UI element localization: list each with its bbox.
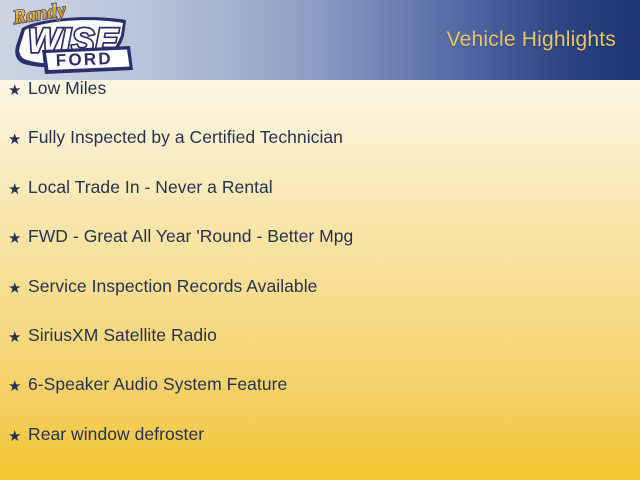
highlight-label: Rear window defroster (28, 426, 640, 444)
star-icon: ★ (8, 182, 28, 197)
vehicle-highlights-slide: WISE Randy FORD Vehicle Highlights ★ Low… (0, 0, 640, 480)
list-item: ★ SiriusXM Satellite Radio (0, 327, 640, 376)
dealer-logo: WISE Randy FORD (4, 2, 136, 78)
dealer-logo-graphic: WISE Randy FORD (4, 2, 136, 78)
logo-ford-text: FORD (55, 49, 113, 70)
list-item: ★ Fully Inspected by a Certified Technic… (0, 129, 640, 178)
star-icon: ★ (8, 231, 28, 246)
list-item: ★ Local Trade In - Never a Rental (0, 179, 640, 228)
list-item: ★ Rear window defroster (0, 426, 640, 475)
star-icon: ★ (8, 132, 28, 147)
star-icon: ★ (8, 330, 28, 345)
list-item: ★ Low Miles (0, 80, 640, 129)
star-icon: ★ (8, 83, 28, 98)
star-icon: ★ (8, 281, 28, 296)
list-item: ★ FWD - Great All Year 'Round - Better M… (0, 228, 640, 277)
star-icon: ★ (8, 429, 28, 444)
highlight-label: Fully Inspected by a Certified Technicia… (28, 129, 640, 147)
list-item: ★ 6-Speaker Audio System Feature (0, 376, 640, 425)
highlight-label: Local Trade In - Never a Rental (28, 179, 640, 197)
highlight-label: Service Inspection Records Available (28, 278, 640, 296)
highlight-label: Low Miles (28, 80, 640, 98)
page-title: Vehicle Highlights (447, 28, 616, 52)
slide-header: WISE Randy FORD Vehicle Highlights (0, 0, 640, 80)
vehicle-highlights-list: ★ Low Miles ★ Fully Inspected by a Certi… (0, 80, 640, 475)
highlight-label: SiriusXM Satellite Radio (28, 327, 640, 345)
star-icon: ★ (8, 379, 28, 394)
list-item: ★ Service Inspection Records Available (0, 278, 640, 327)
highlight-label: FWD - Great All Year 'Round - Better Mpg (28, 228, 640, 246)
highlight-label: 6-Speaker Audio System Feature (28, 376, 640, 394)
